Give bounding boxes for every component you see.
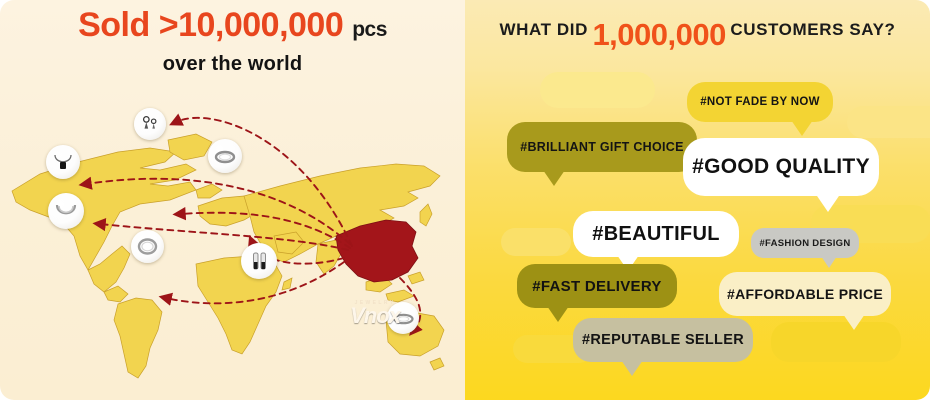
map-badge-ring-band xyxy=(208,139,242,173)
sold-subheadline: over the world xyxy=(0,53,465,76)
promo-banner: Sold >10,000,000 pcs over the world xyxy=(0,0,930,400)
pendant-necklace-icon xyxy=(50,149,76,175)
bubble-label: #BEAUTIFUL xyxy=(592,223,719,246)
ghost-bubble-4 xyxy=(501,228,571,256)
testimonial-bubble-brilliant-gift[interactable]: #BRILLIANT GIFT CHOICE xyxy=(507,122,697,172)
sold-unit: pcs xyxy=(352,18,387,41)
ghost-bubble-1 xyxy=(540,72,655,108)
testimonial-bubble-beautiful[interactable]: #BEAUTIFUL xyxy=(573,211,739,257)
ghost-bubble-5 xyxy=(771,322,901,362)
testimonial-header: WHAT DID 1,000,000 CUSTOMERS SAY? xyxy=(465,17,930,53)
bubble-label: #AFFORDABLE PRICE xyxy=(727,286,883,302)
ring-band-icon xyxy=(212,143,238,169)
bubble-label: #NOT FADE BY NOW xyxy=(700,96,820,108)
header-before: WHAT DID xyxy=(499,20,588,39)
map-badge-cufflinks xyxy=(241,243,277,279)
header-customer-count: 1,000,000 xyxy=(592,17,725,52)
map-badge-earrings xyxy=(134,108,166,140)
testimonial-bubble-affordable-price[interactable]: #AFFORDABLE PRICE xyxy=(719,272,891,316)
testimonial-bubble-not-fade[interactable]: #NOT FADE BY NOW xyxy=(687,82,833,122)
map-badge-bangle-bracelet xyxy=(131,230,164,263)
sold-count: Sold >10,000,000 xyxy=(78,6,343,44)
header-after: CUSTOMERS SAY? xyxy=(730,20,895,39)
bubble-label: #FASHION DESIGN xyxy=(759,238,850,249)
left-panel-world-map: Sold >10,000,000 pcs over the world xyxy=(0,0,465,400)
map-badge-chain-necklace xyxy=(48,193,84,229)
bubble-label: #REPUTABLE SELLER xyxy=(582,332,744,348)
map-badge-ring-pair xyxy=(387,302,419,334)
map-badge-pendant-necklace xyxy=(46,145,80,179)
testimonial-bubble-good-quality[interactable]: #GOOD QUALITY xyxy=(683,138,879,196)
testimonial-bubble-fashion-design[interactable]: #FASHION DESIGN xyxy=(751,228,859,258)
testimonial-bubble-reputable-seller[interactable]: #REPUTABLE SELLER xyxy=(573,318,753,362)
testimonial-bubble-fast-delivery[interactable]: #FAST DELIVERY xyxy=(517,264,677,308)
ring-pair-icon xyxy=(391,306,416,331)
ghost-bubble-2 xyxy=(847,106,930,138)
cufflinks-icon xyxy=(246,248,273,275)
chain-necklace-icon xyxy=(52,197,80,225)
world-map-svg xyxy=(0,86,465,400)
right-panel-testimonials: WHAT DID 1,000,000 CUSTOMERS SAY? #NOT F… xyxy=(465,0,930,400)
world-map: JEWELRY Vnox xyxy=(0,86,465,400)
bubble-label: #GOOD QUALITY xyxy=(692,155,870,179)
left-headline-block: Sold >10,000,000 pcs over the world xyxy=(0,8,465,76)
earrings-icon xyxy=(139,113,161,135)
bubble-label: #FAST DELIVERY xyxy=(532,278,662,295)
sold-headline: Sold >10,000,000 pcs xyxy=(0,8,465,44)
bangle-bracelet-icon xyxy=(135,234,160,259)
bubble-label: #BRILLIANT GIFT CHOICE xyxy=(520,140,684,154)
